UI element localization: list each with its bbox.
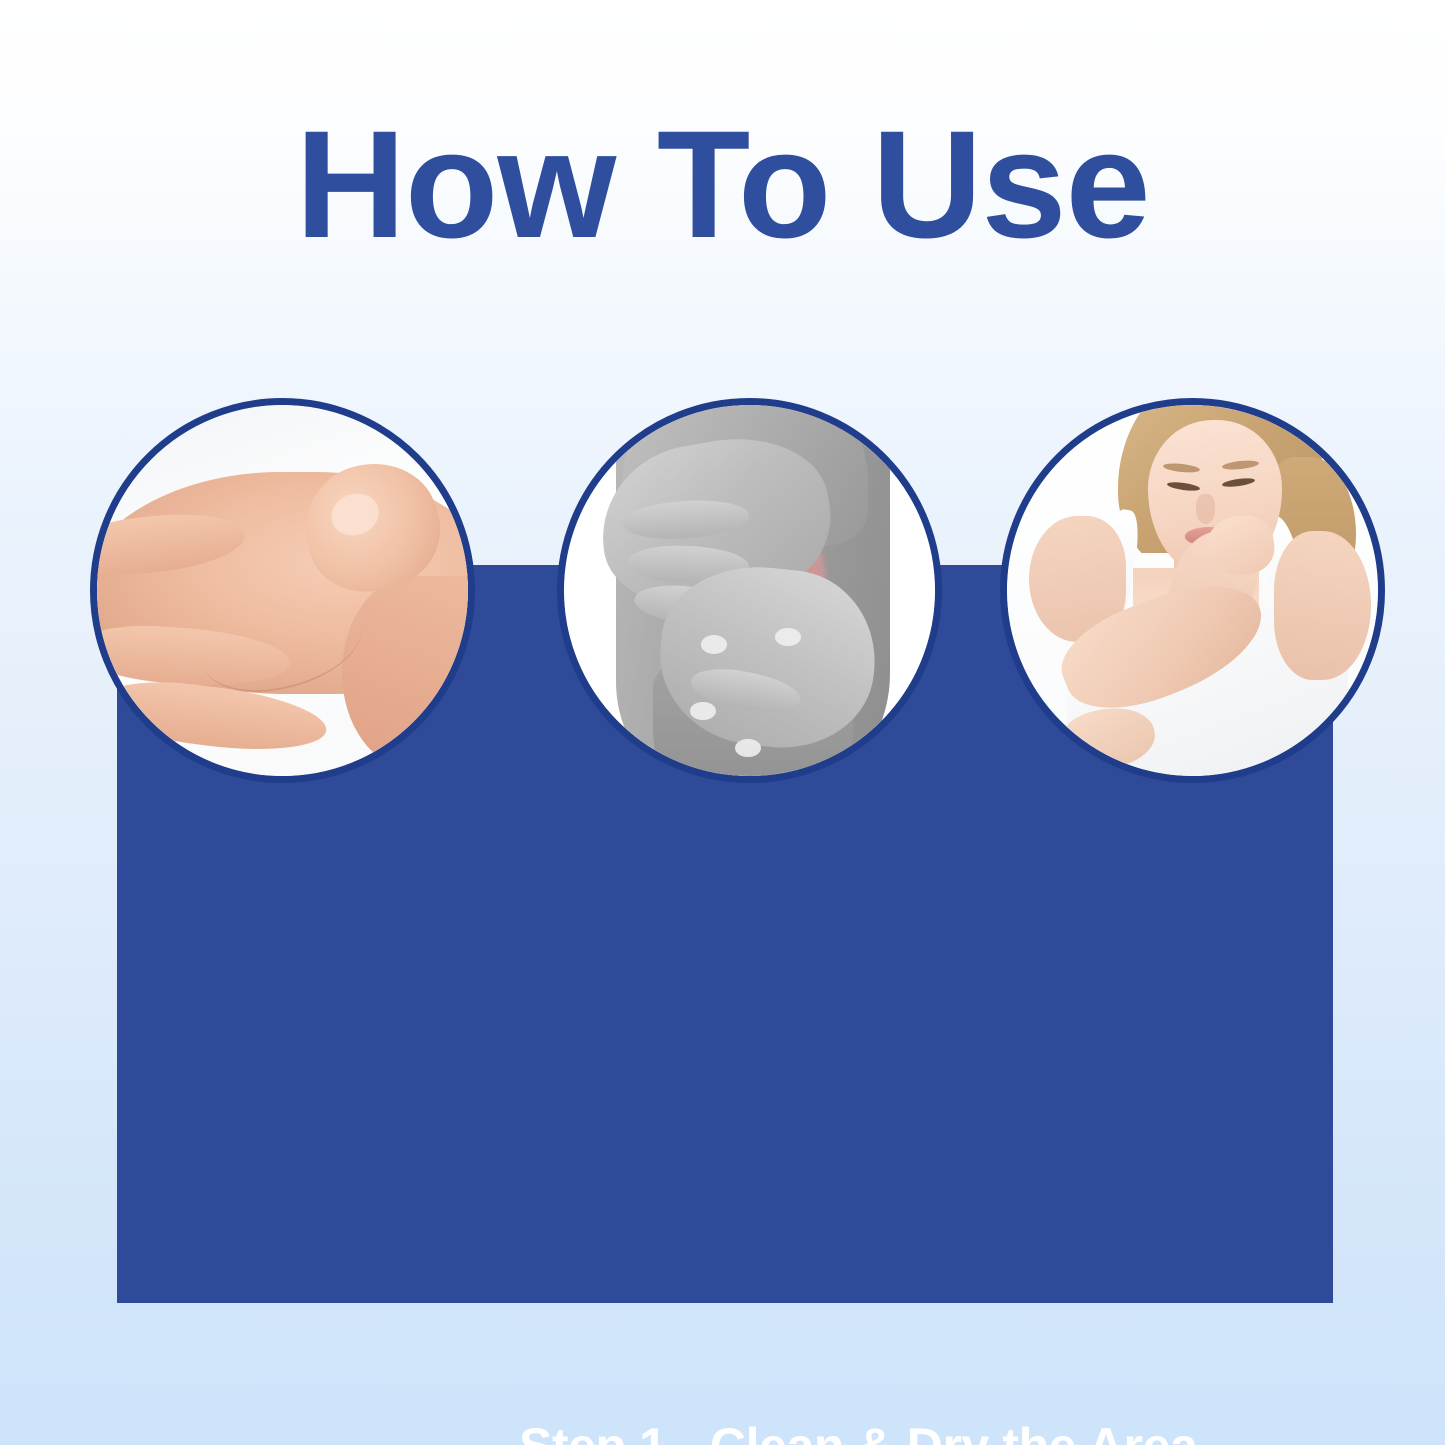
open-palm-hand-photo <box>90 398 475 783</box>
open-palm-hand-photo-inner <box>97 405 468 776</box>
fingernail-4 <box>735 739 761 758</box>
woman-elbow-pain-photo <box>1000 398 1385 783</box>
step-item-1: Step 1 - Clean & Dry the Area <box>519 1413 1319 1445</box>
nose-shape <box>1196 494 1215 524</box>
steps-list: Step 1 - Clean & Dry the Area Step 2 - A… <box>519 1413 1319 1445</box>
how-to-use-infographic: How To Use Step 1 - Clean & Dry the Area… <box>0 0 1445 1445</box>
shoulder-right <box>1274 531 1370 679</box>
knee-pain-photo <box>557 398 942 783</box>
page-title: How To Use <box>0 108 1445 261</box>
fingernail-1 <box>701 635 727 654</box>
woman-elbow-pain-photo-inner <box>1007 405 1378 776</box>
knee-pain-photo-inner <box>564 405 935 776</box>
